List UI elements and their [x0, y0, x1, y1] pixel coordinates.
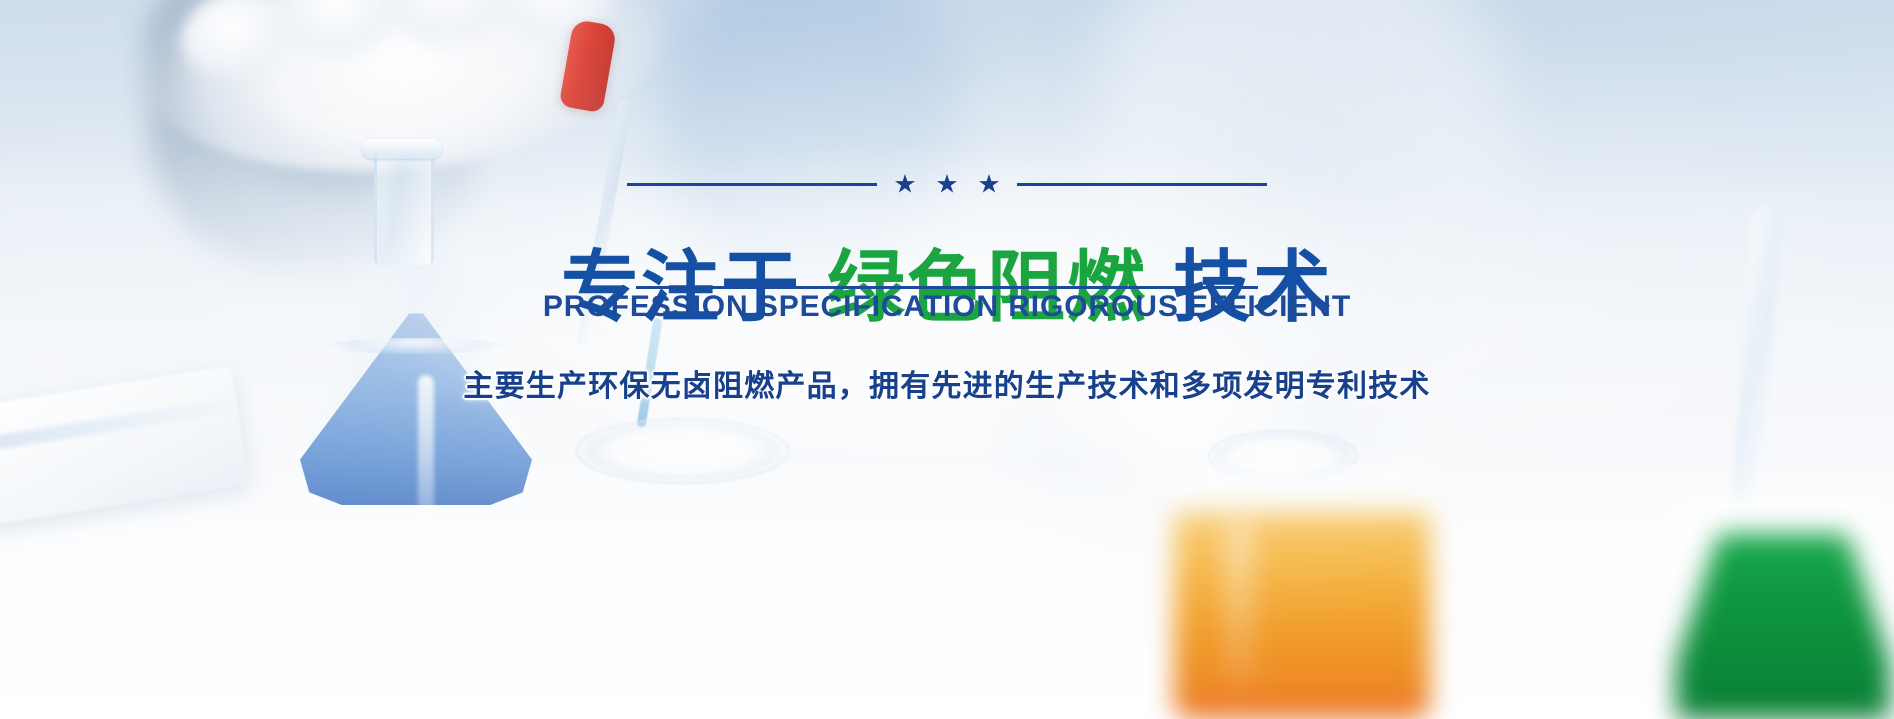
rule-left — [627, 183, 877, 186]
star-icon — [979, 174, 999, 194]
headline-underline — [636, 286, 1258, 289]
hero-banner: 专注于绿色阻燃技术 PROFESSION SPECIFICATION RIGOR… — [0, 0, 1894, 719]
beaker-orange-liquid — [1174, 512, 1430, 719]
subtitle-english: PROFESSION SPECIFICATION RIGOROUS EFFICI… — [543, 290, 1351, 324]
star-icon — [895, 174, 915, 194]
star-icon — [937, 174, 957, 194]
tagline-chinese: 主要生产环保无卤阻燃产品，拥有先进的生产技术和多项发明专利技术 — [463, 361, 1430, 405]
erlenmeyer-flask-icon — [300, 145, 532, 505]
orange-beaker-icon — [1168, 466, 1436, 719]
petri-dish-icon — [576, 418, 790, 484]
green-flask-icon — [1672, 500, 1894, 719]
lab-bench-surface — [0, 460, 1894, 719]
rule-right — [1017, 183, 1267, 186]
star-group — [895, 174, 999, 194]
decorative-rule-row — [627, 174, 1267, 194]
